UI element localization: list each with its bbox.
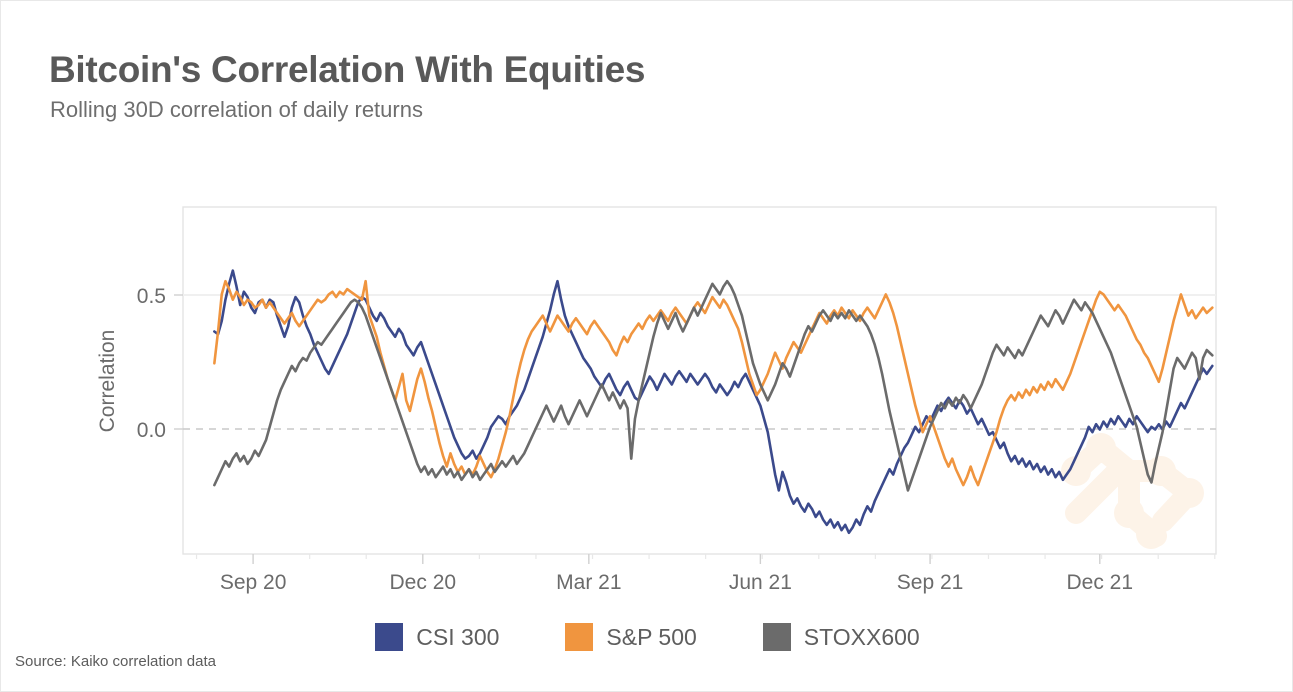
- legend-swatch-icon: [375, 623, 403, 651]
- legend-label: CSI 300: [416, 624, 499, 651]
- chart-figure: Bitcoin's Correlation With Equities Roll…: [0, 0, 1293, 692]
- chart-legend: CSI 300 S&P 500 STOXX600: [1, 623, 1293, 651]
- source-note: Source: Kaiko correlation data: [15, 653, 216, 670]
- legend-item-csi300[interactable]: CSI 300: [375, 623, 499, 651]
- y-tick-label: 0.0: [137, 419, 166, 442]
- x-tick-label: Sep 20: [220, 571, 287, 594]
- y-axis-title: Correlation: [96, 330, 119, 433]
- legend-swatch-icon: [565, 623, 593, 651]
- x-tick-label: Dec 20: [390, 571, 457, 594]
- data-series-group: [214, 271, 1212, 533]
- x-tick-label: Sep 21: [897, 571, 964, 594]
- legend-item-sp500[interactable]: S&P 500: [565, 623, 696, 651]
- legend-item-stoxx600[interactable]: STOXX600: [763, 623, 920, 651]
- y-tick-label: 0.5: [137, 285, 166, 308]
- x-axis-minor-ticks: [197, 554, 1215, 559]
- x-axis: Sep 20Dec 20Mar 21Jun 21Sep 21Dec 21: [220, 554, 1133, 594]
- x-tick-label: Jun 21: [729, 571, 792, 594]
- y-axis-ticks: 0.5 0.0: [137, 285, 183, 442]
- series-line-stoxx600: [214, 281, 1212, 490]
- correlation-line-chart: 0.5 0.0 Correlation Sep 20Dec 20Mar 21Ju…: [1, 1, 1293, 692]
- kaiko-logo-watermark: [1061, 433, 1204, 549]
- legend-label: S&P 500: [606, 624, 696, 651]
- legend-label: STOXX600: [804, 624, 920, 651]
- x-tick-label: Dec 21: [1067, 571, 1134, 594]
- legend-swatch-icon: [763, 623, 791, 651]
- x-tick-label: Mar 21: [556, 571, 621, 594]
